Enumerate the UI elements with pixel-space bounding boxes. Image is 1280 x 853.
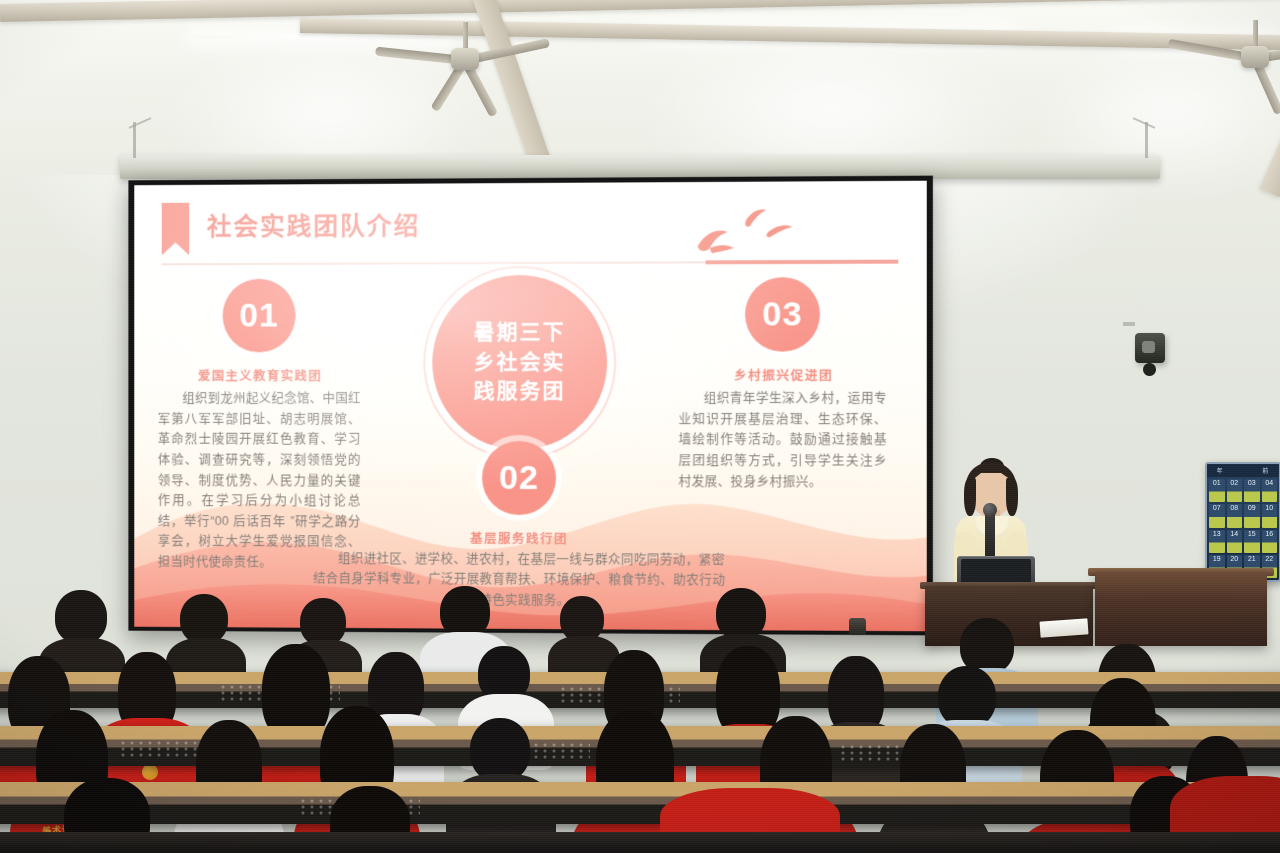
- center-badge-line: 践服务团: [474, 377, 566, 407]
- birds-svg: [688, 206, 819, 261]
- header-divider-accent: [706, 260, 899, 265]
- ceiling-fan-left: [405, 22, 525, 92]
- head: [470, 718, 530, 782]
- fan-hub: [1241, 46, 1269, 68]
- board-cell: 14: [1227, 530, 1243, 553]
- slide-title: 社会实践团队介绍: [207, 207, 421, 244]
- board-cell: 07: [1209, 504, 1225, 527]
- board-cell: 04: [1262, 479, 1278, 502]
- center-badge-circle: 暑期三下 乡社会实 践服务团: [432, 275, 607, 450]
- section-circle-03: 03: [745, 277, 820, 352]
- vest-badge: [142, 764, 158, 780]
- center-badge-text: 暑期三下 乡社会实 践服务团: [474, 318, 566, 408]
- board-header-cell: 前: [1262, 466, 1269, 475]
- section-body-03: 组织青年学生深入乡村，运用专业知识开展基层治理、生态环保、墙绘制作等活动。鼓励通…: [678, 388, 887, 492]
- board-cell: 10: [1262, 504, 1278, 527]
- fan-hub: [451, 48, 479, 70]
- head: [938, 666, 996, 728]
- board-cell: 09: [1244, 504, 1260, 527]
- presenter-hair-right: [1006, 478, 1018, 516]
- camera-mount-arm: [1123, 322, 1135, 326]
- center-badge-line: 乡社会实: [474, 348, 566, 378]
- bench-row-3: [0, 782, 1280, 824]
- head: [55, 590, 107, 644]
- section-subtitle-01: 爱国主义教育实践团: [164, 365, 357, 384]
- section-body-01: 组织到龙州起义纪念馆、中国红军第八军军部旧址、胡志明展馆、革命烈士陵园开展红色教…: [158, 388, 361, 573]
- board-cell: 01: [1209, 479, 1225, 502]
- head: [300, 598, 346, 646]
- section-circle-01: 01: [223, 279, 296, 353]
- photo-scene: 年 前 01 02 03 04 07 08 09 10 13 14 15 16 …: [0, 0, 1280, 853]
- roller-bracket-left: [133, 122, 136, 158]
- ceiling-fan-right: [1195, 20, 1280, 90]
- board-cell: 02: [1227, 479, 1243, 502]
- board-cell: 15: [1244, 530, 1260, 553]
- surveillance-camera-icon: [1135, 333, 1165, 363]
- head: [716, 588, 766, 640]
- section-circle-02: 02: [482, 441, 556, 515]
- flying-birds-icon: [688, 206, 819, 261]
- board-header: 年 前: [1207, 464, 1279, 477]
- bookmark-ribbon-icon: [162, 203, 189, 255]
- bench-row-4-front: [0, 832, 1280, 853]
- head: [440, 586, 490, 638]
- center-badge-line: 暑期三下: [474, 318, 566, 348]
- section-subtitle-02: 基层服务践行团: [421, 528, 617, 548]
- section-number-03: 03: [762, 295, 802, 334]
- head: [180, 594, 228, 644]
- roller-bracket-right: [1145, 122, 1148, 158]
- board-header-cell: 年: [1217, 466, 1224, 475]
- board-cell: 13: [1209, 530, 1225, 553]
- board-cell: 03: [1244, 479, 1260, 502]
- section-subtitle-03: 乡村振兴促进团: [685, 365, 883, 384]
- slide-header: 社会实践团队介绍: [162, 199, 899, 262]
- board-cell: 08: [1227, 504, 1243, 527]
- presenter-hair-left: [964, 478, 976, 516]
- board-cell: 16: [1262, 530, 1278, 553]
- audience-area: 美术设计学院 美术设计学院: [0, 560, 1280, 853]
- section-number-01: 01: [239, 296, 278, 335]
- section-number-02: 02: [499, 458, 539, 497]
- projector-screen-roller: [120, 155, 1160, 179]
